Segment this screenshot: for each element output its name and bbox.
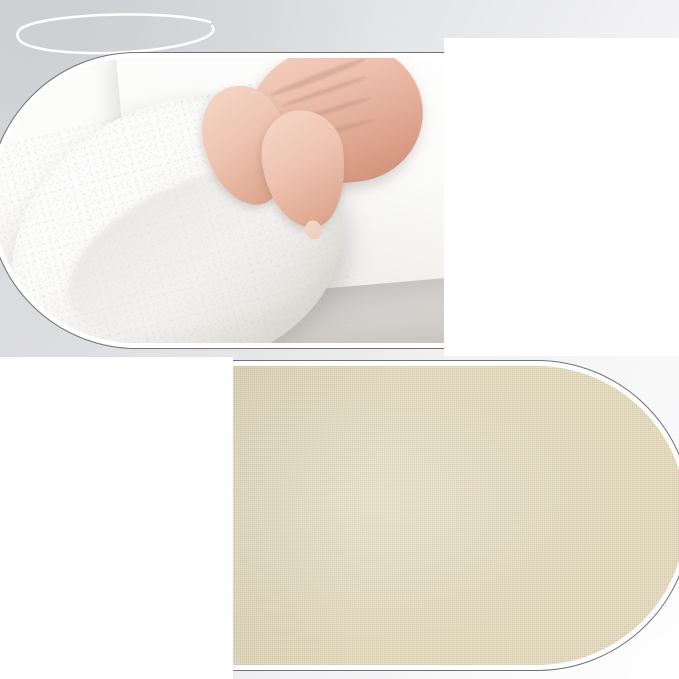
sponge-photo-panel[interactable] bbox=[0, 52, 468, 349]
sponge-photo bbox=[0, 58, 462, 343]
fabric-photo-panel[interactable] bbox=[212, 360, 679, 671]
hand bbox=[209, 58, 415, 206]
fabric-photo bbox=[218, 366, 679, 665]
sponge-caption-card bbox=[444, 38, 679, 356]
sponge-scene bbox=[0, 58, 462, 343]
water-droplet-layer bbox=[218, 366, 679, 665]
ellipse-outline-icon bbox=[14, 12, 224, 56]
page-title bbox=[14, 12, 224, 56]
fabric-caption-card bbox=[0, 357, 233, 679]
